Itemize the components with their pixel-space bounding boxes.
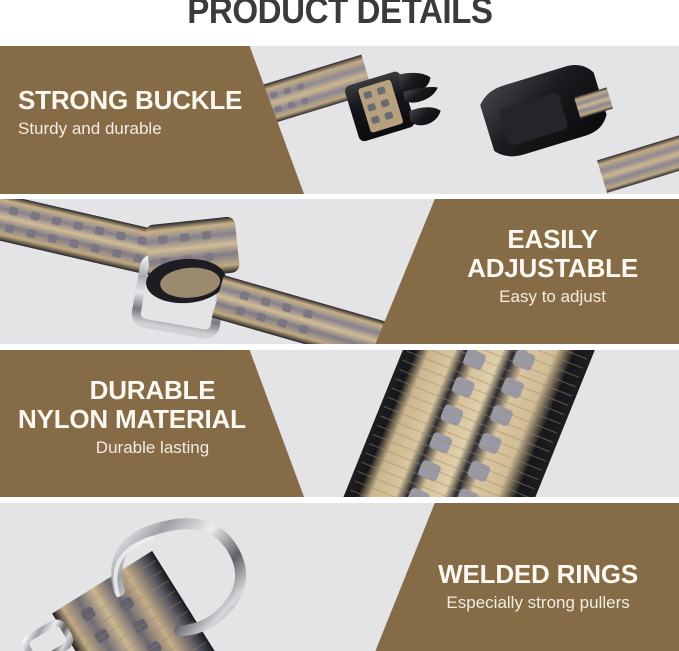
panel-heading: WELDED RINGS — [438, 560, 638, 589]
panel-durable-nylon-material: DURABLE NYLON MATERIAL Durable lasting — [0, 350, 679, 497]
panel-heading-line-2: ADJUSTABLE — [467, 254, 638, 283]
panel-heading-line-1: DURABLE — [60, 376, 245, 405]
panel-text-block: WELDED RINGS Especially strong pullers — [438, 560, 638, 614]
panel-text-block: EASILY ADJUSTABLE Easy to adjust — [467, 225, 638, 308]
panel-text-block: STRONG BUCKLE Sturdy and durable — [18, 86, 242, 140]
panel-easily-adjustable: EASILY ADJUSTABLE Easy to adjust — [0, 199, 679, 344]
panel-subtitle: Sturdy and durable — [18, 118, 242, 140]
panel-heading-line-1: EASILY — [467, 225, 638, 254]
panel-heading: STRONG BUCKLE — [18, 86, 242, 115]
panel-welded-rings: WELDED RINGS Especially strong pullers — [0, 503, 679, 651]
panel-heading-line-2: NYLON MATERIAL — [18, 405, 245, 434]
panel-subtitle: Especially strong pullers — [438, 592, 638, 614]
panel-subtitle: Easy to adjust — [467, 286, 638, 308]
header: PRODUCT DETAILS — [0, 0, 679, 40]
panel-text-block: DURABLE NYLON MATERIAL Durable lasting — [60, 376, 245, 459]
page-title: PRODUCT DETAILS — [187, 0, 492, 28]
panel-strong-buckle: STRONG BUCKLE Sturdy and durable — [0, 46, 679, 194]
product-details-infographic: PRODUCT DETAILS — [0, 0, 679, 651]
panel-subtitle: Durable lasting — [60, 437, 245, 459]
